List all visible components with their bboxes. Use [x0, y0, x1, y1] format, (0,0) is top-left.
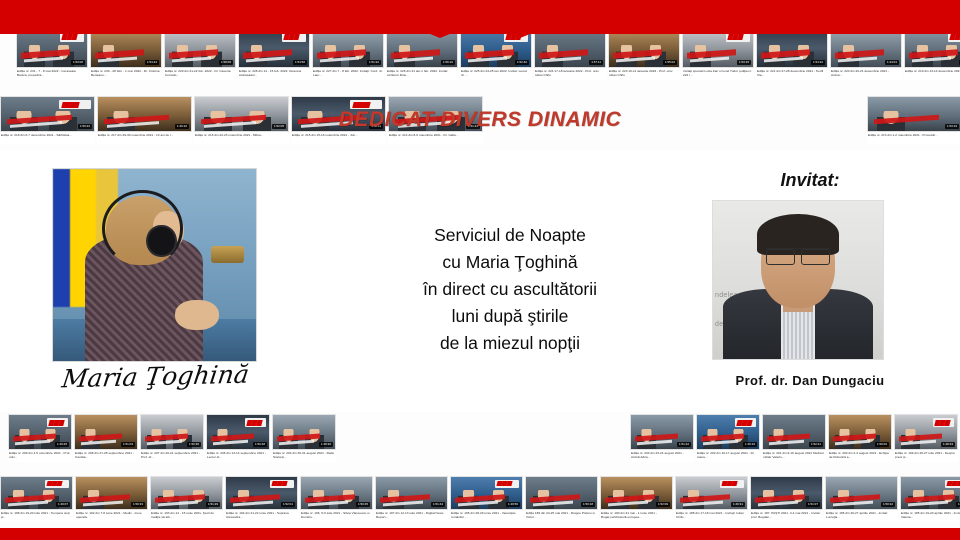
banner-notch-left	[400, 22, 480, 38]
guest-name: Prof. dr. Dan Dungaciu	[690, 373, 930, 388]
video-duration-badge: 1:53:15	[737, 60, 751, 65]
thumbnail-image[interactable]: 1:48:44	[904, 28, 960, 68]
thumbnail-image[interactable]: 1:50:22	[825, 476, 898, 510]
video-thumbnail[interactable]: 1:49:56Ediția nr. 195 din 28-29 iunie 20…	[450, 476, 523, 522]
video-duration-badge: 1:58:06	[219, 60, 233, 65]
promo-text-block: Serviciul de Noapte cu Maria Ţoghină în …	[330, 222, 690, 357]
video-thumbnail[interactable]: 1:44:01Ediția nr. 220 din 20-21 decembri…	[830, 28, 902, 80]
thumbnail-caption[interactable]: Ediția nr. 187, PAŞTI 2021, 3-4 mai 2021…	[750, 510, 823, 522]
thumbnail-caption[interactable]: Ediția 189 din 24-25 mai 2021 - Dragos P…	[525, 510, 598, 522]
station-logo-icon	[245, 418, 266, 427]
video-thumbnail[interactable]: 1:54:56Ediția nr. 228 din 14 - 15 feb. 2…	[238, 28, 310, 80]
thumbnail-band-bottom-row-1: 1:49:25Ediția nr. 209 din 4-5 octombrie …	[8, 414, 338, 462]
video-duration-badge: 1:51:03	[121, 442, 135, 447]
thumbnail-image[interactable]: 1:50:45	[300, 476, 373, 510]
promo-line: Serviciul de Noapte	[330, 222, 690, 249]
video-thumbnail[interactable]: 1:50:22Ediția nr. 186 din 26-27 aprilie …	[825, 476, 898, 522]
video-thumbnail[interactable]: 1:49:25Ediția nr. 209 din 4-5 octombrie …	[8, 414, 72, 462]
thumbnail-caption[interactable]: Ediția nr. 225 din 24-25 ian 2022. Invit…	[460, 68, 532, 80]
thumbnail-caption[interactable]: Ediția nr. 195 din 28-29 iunie 2021 - Va…	[450, 510, 523, 522]
thumbnail-caption[interactable]: Ediția nr. 224 17-18 ianuarie 2022 - Pro…	[534, 68, 606, 80]
video-thumbnail[interactable]: 1:51:03Ediția nr. 208 din 27-28 septembr…	[74, 414, 138, 462]
thumbnail-caption[interactable]: Ediția nr. 193 din 14 - 15 iunie 2021- Ş…	[150, 510, 223, 522]
video-duration-badge: 1:52:01	[281, 502, 295, 507]
thumbnail-caption[interactable]: Ediția nr. 194 din 21-22 iunie 2021 - So…	[225, 510, 298, 522]
thumbnail-caption[interactable]: Ediția nr. 196, 5-6 iulie 2021 - Silvia …	[300, 510, 373, 522]
thumbnail-image[interactable]: 1:48:33	[894, 414, 958, 450]
thumbnail-caption[interactable]: Ediția nr. 207 din 20-21 septembrie 2021…	[140, 450, 204, 462]
station-logo-icon	[945, 480, 960, 488]
video-duration-badge: 1:56:10	[441, 60, 455, 65]
video-thumbnail[interactable]: 1:53:06Ediția nr. 231 - 7 - 8 mai 2022 -…	[16, 28, 88, 80]
page-title: DEDICAT DIVERS DINAMIC	[0, 108, 960, 132]
video-duration-badge: 1:53:06	[71, 60, 85, 65]
host-signature: Maria Ţoghină	[46, 359, 266, 394]
banner-notch-right	[480, 22, 560, 38]
promo-line: de la miezul nopţii	[330, 330, 690, 357]
glasses-icon	[766, 248, 831, 262]
thumbnail-band-bottom-row-2: 1:49:07Ediția nr. 198 din 19-20 iulie 20…	[0, 476, 960, 522]
video-thumbnail[interactable]: 1:55:02Ediția nr. 223 10-11 ianuarie 202…	[608, 28, 680, 80]
thumbnail-caption[interactable]: Ediția nr. 230 - 28 febr - 1 mar 2022 - …	[90, 68, 162, 80]
promo-line: cu Maria Ţoghină	[330, 249, 690, 276]
thumbnail-caption[interactable]: Ediția nr. 214 din 8-9 noiembrie 2021 - …	[388, 132, 483, 144]
station-logo-icon	[735, 418, 756, 427]
thumbnail-image[interactable]: 1:51:44	[375, 476, 448, 510]
thumbnail-caption[interactable]: Ediția nr. 208 din 27-28 septembrie 2021…	[74, 450, 138, 462]
thumbnail-image[interactable]: 1:54:32	[756, 28, 828, 68]
thumbnail-image[interactable]: 1:54:44	[90, 28, 162, 68]
station-logo-icon	[495, 480, 519, 488]
video-duration-badge: 1:55:02	[663, 60, 677, 65]
video-duration-badge: 1:48:33	[941, 442, 955, 447]
thumbnail-caption[interactable]: Ediția nr. 188 din 17-18 mai 2021 - Invi…	[675, 510, 748, 522]
thumbnail-image[interactable]: 1:49:25	[8, 414, 72, 450]
headphones-icon	[102, 190, 183, 267]
thumbnail-image[interactable]: 1:50:02	[828, 414, 892, 450]
promo-line: în direct cu ascultătorii	[330, 276, 690, 303]
promo-line: luni după ştirile	[330, 303, 690, 330]
video-thumbnail[interactable]: 1:48:33Ediția nr. 199 din 26-27 iulie 20…	[894, 414, 958, 462]
thumbnail-caption[interactable]: Ediția nr. 223 10-11 ianuarie 2022 - Pro…	[608, 68, 680, 80]
thumbnail-image[interactable]: 1:49:19	[696, 414, 760, 450]
thumbnail-caption[interactable]: Ediția nr. 190 din 31 mai - 1 iunie 2021…	[600, 510, 673, 522]
video-thumbnail[interactable]: 1:54:32Ediția nr. 221 din 27-28 decembri…	[756, 28, 828, 80]
thumbnail-image[interactable]: 1:51:03	[74, 414, 138, 450]
thumbnail-image[interactable]: 1:53:06	[16, 28, 88, 68]
thumbnail-caption[interactable]: Ediția nr. 219 din 13-14 decembrie 2021 …	[904, 68, 960, 80]
video-duration-badge: 1:54:32	[811, 60, 825, 65]
thumbnail-image[interactable]: 1:55:02	[608, 28, 680, 68]
thumbnail-caption[interactable]: Ediția nr. 227 din 7 - 8 feb. 2022. Invi…	[312, 68, 384, 80]
thumbnail-caption[interactable]: Ediția nr. 202 din 16-17 august 2021 - D…	[696, 450, 760, 462]
video-thumbnail[interactable]: 1:49:19Ediția nr. 202 din 16-17 august 2…	[696, 414, 760, 462]
video-duration-badge: 1:48:30	[319, 442, 333, 447]
video-thumbnail[interactable]: 1:50:18Ediția 189 din 24-25 mai 2021 - D…	[525, 476, 598, 522]
bottom-red-strip	[0, 528, 960, 540]
thumbnail-image[interactable]: 1:44:01	[830, 28, 902, 68]
thumbnail-image[interactable]: 1:52:09	[600, 476, 673, 510]
video-thumbnail[interactable]: 1:52:01Ediția nr. 194 din 21-22 iunie 20…	[225, 476, 298, 522]
thumbnail-caption[interactable]: Ediția nr. 198 din 19-20 iulie 2021 - Te…	[0, 510, 73, 522]
microphone-icon	[211, 246, 243, 263]
video-duration-badge: 1:57:11	[589, 60, 603, 65]
video-thumbnail[interactable]: 1:51:07Ediția nr. 187, PAŞTI 2021, 3-4 m…	[750, 476, 823, 522]
video-duration-badge: 1:49:07	[56, 502, 70, 507]
thumbnail-image[interactable]: 1:52:41	[762, 414, 826, 450]
thumbnail-caption[interactable]: Ediția nr. 204 din 30-31 august 2021 - R…	[272, 450, 336, 462]
thumbnail-image[interactable]: 1:49:31	[675, 476, 748, 510]
thumbnail-caption[interactable]: Ediția nr. 217 din 29-30 noiembrie 2021 …	[97, 132, 192, 144]
video-thumbnail[interactable]: 1:52:36Ediția nr. 207 din 20-21 septembr…	[140, 414, 204, 462]
thumbnail-image[interactable]: 1:51:29	[150, 476, 223, 510]
video-duration-badge: 1:51:22	[367, 60, 381, 65]
video-thumbnail[interactable]: 1:48:44Ediția nr. 219 din 13-14 decembri…	[904, 28, 960, 80]
video-duration-badge: 1:50:33	[131, 502, 145, 507]
thumbnail-caption[interactable]: Ediția nr. 229 din 21-22 feb. 2022 - Dr.…	[164, 68, 236, 80]
video-duration-badge: 1:50:45	[356, 502, 370, 507]
video-duration-badge: 1:50:48	[253, 442, 267, 447]
video-duration-badge: 1:51:44	[431, 502, 445, 507]
video-thumbnail[interactable]: 1:52:09Ediția nr. 190 din 31 mai - 1 iun…	[600, 476, 673, 522]
video-duration-badge: 1:51:22	[677, 442, 691, 447]
station-logo-icon	[270, 480, 294, 488]
thumbnail-image[interactable]: 1:58:06	[164, 28, 236, 68]
thumbnail-caption[interactable]: Ediția nr. 192 din 7-8 iunie 2021 - Medi…	[75, 510, 148, 522]
thumbnail-caption[interactable]: invitaţi speciali Luiza Zan si Ionel Tud…	[682, 68, 754, 80]
video-thumbnail[interactable]: 1:48:30Ediția nr. 204 din 30-31 august 2…	[272, 414, 336, 462]
video-thumbnail[interactable]: 1:50:33Ediția nr. 192 din 7-8 iunie 2021…	[75, 476, 148, 522]
station-logo-icon	[47, 418, 68, 427]
thumbnail-image[interactable]: 1:50:33	[75, 476, 148, 510]
thumbnail-image[interactable]: 1:49:56	[450, 476, 523, 510]
thumbnail-image[interactable]: 1:48:30	[272, 414, 336, 450]
video-thumbnail[interactable]: 1:50:02Ediția nr. 200 din 2-3 august 202…	[828, 414, 892, 462]
video-thumbnail[interactable]: 1:51:44Ediția nr. 197 din 12-13 iulie 20…	[375, 476, 448, 522]
thumbnail-image[interactable]: 1:50:48	[206, 414, 270, 450]
thumbnail-caption[interactable]: Ediția nr. 200 din 2-3 august 2021 - Ech…	[828, 450, 892, 462]
thumbnail-caption[interactable]: Ediția nr. 199 din 26-27 iulie 2021 - De…	[894, 450, 958, 462]
thumbnail-caption[interactable]: Ediția nr. 228 din 14 - 15 feb. 2022. Do…	[238, 68, 310, 80]
thumbnail-caption[interactable]: Ediția nr. 185 din 19-20 aprilie 2021 - …	[900, 510, 960, 522]
thumbnail-image[interactable]: 1:48:54	[900, 476, 960, 510]
video-duration-badge: 1:50:22	[881, 502, 895, 507]
thumbnail-image[interactable]: 1:54:56	[238, 28, 310, 68]
video-thumbnail[interactable]: 1:50:48Ediția nr. 206 din 13-14 septembr…	[206, 414, 270, 462]
thumbnail-caption[interactable]: Ediția nr. 209 din 4-5 octombrie 2021 - …	[8, 450, 72, 462]
thumbnail-caption[interactable]: Ediția nr. 216 din 22-23 noiembrie 2021 …	[194, 132, 289, 144]
video-duration-badge: 1:49:31	[731, 502, 745, 507]
video-duration-badge: 1:52:36	[187, 442, 201, 447]
video-duration-badge: 1:51:29	[206, 502, 220, 507]
thumbnail-band-bottom-row-1-right: 1:51:22Ediția nr. 203 din 23-24 august 2…	[630, 414, 960, 462]
thumbnail-image[interactable]: 1:51:22	[630, 414, 694, 450]
thumbnail-caption[interactable]: Ediția nr. 231 - 7 - 8 mai 2022 - Cerase…	[16, 68, 88, 80]
thumbnail-image[interactable]: 1:53:15	[682, 28, 754, 68]
thumbnail-caption[interactable]: Ediția nr. 218 din 6-7 decembrie 2021 - …	[0, 132, 95, 144]
station-logo-icon	[45, 480, 69, 488]
video-thumbnail[interactable]: 1:58:06Ediția nr. 229 din 21-22 feb. 202…	[164, 28, 236, 80]
thumbnail-caption[interactable]: Ediția nr. 220 din 20-21 decembrie 2021 …	[830, 68, 902, 80]
host-hands	[175, 300, 220, 331]
thumbnail-caption[interactable]: Ediția nr. 203 din 23-24 august 2021 - A…	[630, 450, 694, 462]
video-thumbnail[interactable]: 1:52:41Ediția nr. 201 din 9-10 august 20…	[762, 414, 826, 462]
video-thumbnail[interactable]: 1:51:29Ediția nr. 193 din 14 - 15 iunie …	[150, 476, 223, 522]
video-thumbnail[interactable]: 1:51:22Ediția nr. 203 din 23-24 august 2…	[630, 414, 694, 462]
station-logo-icon	[933, 418, 954, 427]
video-duration-badge: 1:44:01	[885, 60, 899, 65]
thumbnail-image[interactable]: 1:52:36	[140, 414, 204, 450]
thumbnail-caption[interactable]: Ediția nr. 206 din 13-14 septembrie 2021…	[206, 450, 270, 462]
host-photo	[52, 168, 257, 362]
thumbnail-image[interactable]: 1:50:18	[525, 476, 598, 510]
video-thumbnail[interactable]: 1:49:31Ediția nr. 188 din 17-18 mai 2021…	[675, 476, 748, 522]
video-duration-badge: 1:54:44	[145, 60, 159, 65]
video-duration-badge: 1:49:56	[506, 502, 520, 507]
video-duration-badge: 1:50:18	[581, 502, 595, 507]
thumbnail-caption[interactable]: Ediția nr. 215 din 15-16 noiembrie 2021 …	[291, 132, 386, 144]
guest-label: Invitat:	[700, 170, 920, 191]
thumbnail-caption[interactable]: Ediția nr. 221 din 27-28 decembrie 2021 …	[756, 68, 828, 80]
video-duration-badge: 1:52:41	[809, 442, 823, 447]
video-duration-badge: 1:52:09	[656, 502, 670, 507]
video-duration-badge: 1:49:19	[743, 442, 757, 447]
thumbnail-image[interactable]: 1:51:22	[312, 28, 384, 68]
video-duration-badge: 1:54:56	[293, 60, 307, 65]
video-duration-badge: 1:50:02	[875, 442, 889, 447]
guest-photo: ndelea dea	[712, 200, 884, 360]
thumbnail-image[interactable]: 1:51:07	[750, 476, 823, 510]
video-thumbnail[interactable]: 1:54:44Ediția nr. 230 - 28 febr - 1 mar …	[90, 28, 162, 80]
thumbnail-caption[interactable]: Ediția nr. 201 din 9-10 august 2021 Medi…	[762, 450, 826, 462]
poster-canvas: 1:53:06Ediția nr. 231 - 7 - 8 mai 2022 -…	[0, 0, 960, 540]
video-duration-badge: 1:51:07	[806, 502, 820, 507]
thumbnail-caption[interactable]: Ediția nr. 197 din 12-13 iulie 2021 - Di…	[375, 510, 448, 522]
video-duration-badge: 1:48:54	[956, 502, 960, 507]
thumbnail-image[interactable]: 1:49:07	[0, 476, 73, 510]
thumbnail-image[interactable]: 1:52:01	[225, 476, 298, 510]
station-logo-icon	[720, 480, 744, 488]
video-thumbnail[interactable]: 1:48:54Ediția nr. 185 din 19-20 aprilie …	[900, 476, 960, 522]
video-duration-badge: 1:52:40	[515, 60, 529, 65]
headphone-cup	[148, 227, 174, 256]
thumbnail-caption[interactable]: Ediția nr. 186 din 26-27 aprilie 2021 - …	[825, 510, 898, 522]
thumbnail-caption[interactable]: Ediția nr. 226 din 31 ian-1 feb. 2022. I…	[386, 68, 458, 80]
video-thumbnail[interactable]: 1:50:45Ediția nr. 196, 5-6 iulie 2021 - …	[300, 476, 373, 522]
video-thumbnail[interactable]: 1:51:22Ediția nr. 227 din 7 - 8 feb. 202…	[312, 28, 384, 80]
thumbnail-caption[interactable]: Ediția nr. 213 din 1-2 noiembrie 2021 - …	[867, 132, 960, 144]
video-duration-badge: 1:49:25	[55, 442, 69, 447]
video-thumbnail[interactable]: 1:53:15invitaţi speciali Luiza Zan si Io…	[682, 28, 754, 80]
video-thumbnail[interactable]: 1:49:07Ediția nr. 198 din 19-20 iulie 20…	[0, 476, 73, 522]
